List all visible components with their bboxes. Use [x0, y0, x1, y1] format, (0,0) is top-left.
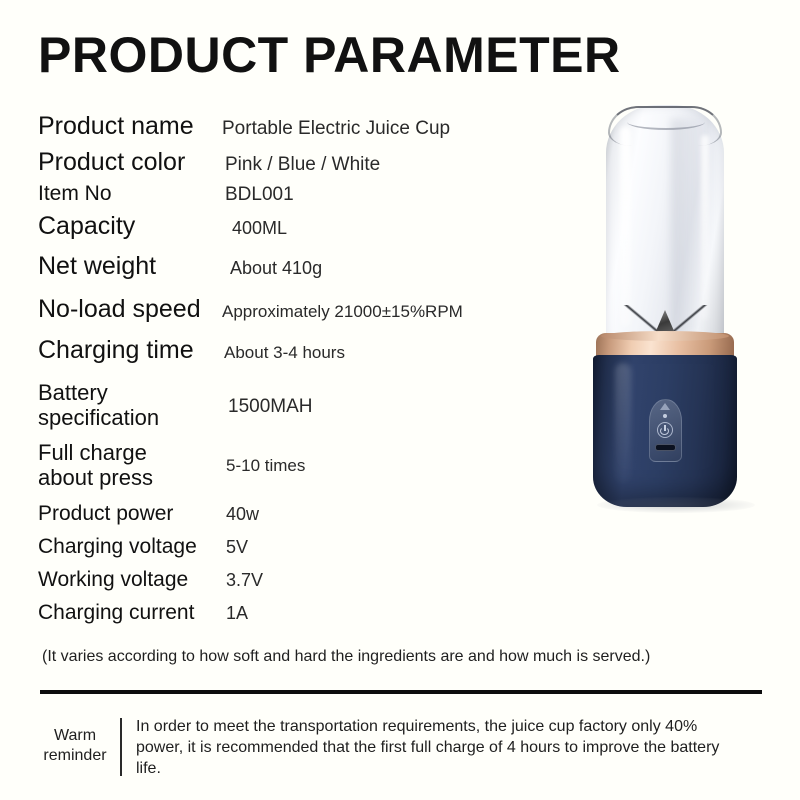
glass-highlight-left	[620, 127, 631, 327]
table-row: No-load speed Approximately 21000±15%RPM	[38, 295, 538, 336]
table-row: Charging current 1A	[38, 601, 538, 634]
spec-label-capacity: Capacity	[38, 212, 220, 241]
spec-value-product-name: Portable Electric Juice Cup	[220, 118, 538, 140]
page-title: PRODUCT PARAMETER	[38, 30, 621, 80]
spec-value-no-load-speed: Approximately 21000±15%RPM	[220, 302, 538, 322]
product-shadow	[597, 497, 755, 513]
spec-label-charging-time: Charging time	[38, 336, 220, 365]
table-row: Product name Portable Electric Juice Cup	[38, 112, 538, 148]
blender-blade-right	[667, 305, 712, 331]
arrow-indicator-icon	[660, 403, 670, 410]
spec-value-product-power: 40w	[220, 504, 538, 525]
led-dot-icon	[663, 414, 667, 418]
table-row: Product power 40w	[38, 502, 538, 535]
spec-label-battery-specification: Battery specification	[38, 380, 220, 431]
horizontal-divider	[40, 690, 762, 694]
specification-table: Product name Portable Electric Juice Cup…	[38, 112, 538, 634]
spec-value-full-charge-about-press: 5-10 times	[220, 456, 538, 476]
spec-value-charging-current: 1A	[220, 603, 538, 624]
spec-label-charging-current: Charging current	[38, 601, 220, 625]
spec-label-net-weight: Net weight	[38, 252, 220, 281]
spec-value-net-weight: About 410g	[220, 258, 538, 279]
spec-value-capacity: 400ML	[220, 218, 538, 239]
spec-label-product-color: Product color	[38, 148, 220, 177]
blender-blade-left	[619, 305, 664, 331]
product-photo	[575, 105, 780, 515]
power-button-icon	[657, 422, 673, 438]
table-row: Capacity 400ML	[38, 212, 538, 252]
table-row: Battery specification 1500MAH	[38, 380, 538, 440]
spec-label-product-name: Product name	[38, 112, 220, 141]
footnote-text: (It varies according to how soft and har…	[42, 648, 650, 666]
table-row: Item No BDL001	[38, 182, 538, 212]
table-row: Product color Pink / Blue / White	[38, 148, 538, 182]
warm-reminder-text: In order to meet the transportation requ…	[122, 716, 738, 779]
usb-port-icon	[655, 444, 676, 451]
spec-label-no-load-speed: No-load speed	[38, 295, 220, 324]
product-parameter-page: PRODUCT PARAMETER Product name Portable …	[0, 0, 800, 800]
spec-label-item-no: Item No	[38, 182, 220, 206]
spec-value-charging-voltage: 5V	[220, 537, 538, 558]
base-highlight	[615, 363, 631, 483]
warm-reminder-label: Warm reminder	[38, 716, 112, 766]
table-row: Charging voltage 5V	[38, 535, 538, 568]
table-row: Full charge about press 5-10 times	[38, 440, 538, 502]
table-row: Charging time About 3-4 hours	[38, 336, 538, 380]
spec-label-charging-voltage: Charging voltage	[38, 535, 220, 559]
spec-value-battery-specification: 1500MAH	[220, 396, 538, 418]
warm-reminder-block: Warm reminder In order to meet the trans…	[38, 716, 738, 779]
spec-label-product-power: Product power	[38, 502, 220, 526]
spec-value-charging-time: About 3-4 hours	[220, 343, 538, 363]
spec-value-item-no: BDL001	[220, 184, 538, 206]
spec-value-product-color: Pink / Blue / White	[220, 154, 538, 176]
copper-ring-top	[601, 331, 729, 341]
glass-rim-inner	[627, 114, 705, 130]
spec-label-full-charge-about-press: Full charge about press	[38, 440, 220, 491]
table-row: Working voltage 3.7V	[38, 568, 538, 601]
glass-highlight-right	[701, 135, 709, 320]
table-row: Net weight About 410g	[38, 252, 538, 295]
spec-label-working-voltage: Working voltage	[38, 568, 220, 592]
spec-value-working-voltage: 3.7V	[220, 570, 538, 591]
